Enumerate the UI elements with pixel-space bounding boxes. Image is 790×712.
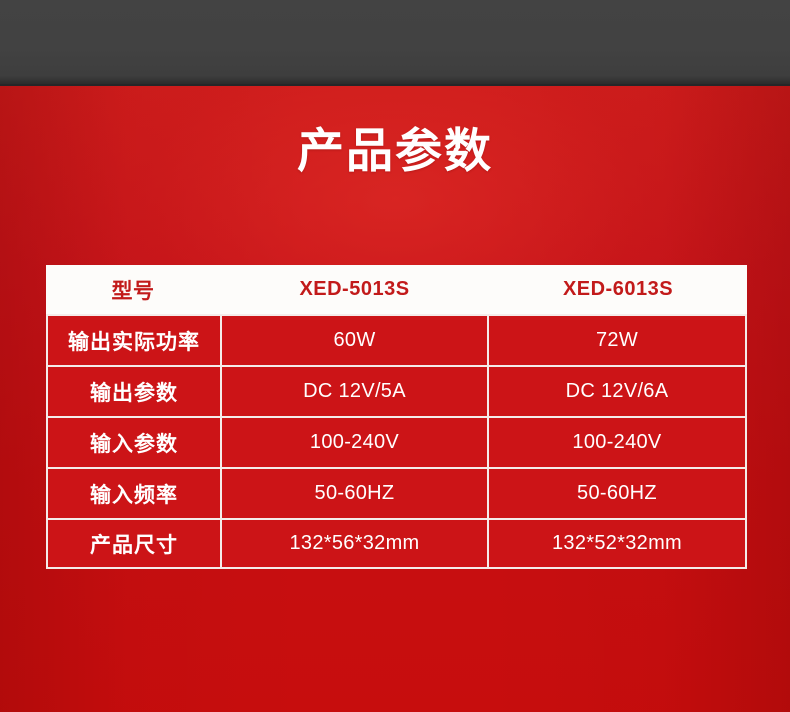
row-label-output-params: 输出参数 (46, 365, 222, 416)
table-header: 型号 XED-5013S XED-6013S (46, 265, 747, 314)
product-spec-table: 型号 XED-5013S XED-6013S 输出实际功率 60W 72W 输出… (46, 265, 747, 569)
table-row: 输出参数 DC 12V/5A DC 12V/6A (46, 365, 747, 416)
table-row: 输入参数 100-240V 100-240V (46, 416, 747, 467)
column-header-model-2: XED-6013S (489, 265, 747, 314)
cell-input-params-model-1: 100-240V (222, 416, 489, 467)
cell-input-params-model-2: 100-240V (489, 416, 747, 467)
table-row: 输入频率 50-60HZ 50-60HZ (46, 467, 747, 518)
table-row: 输出实际功率 60W 72W (46, 314, 747, 365)
page-title: 产品参数 (0, 121, 790, 181)
row-label-output-power: 输出实际功率 (46, 314, 222, 365)
row-label-input-frequency: 输入频率 (46, 467, 222, 518)
table-row: 产品尺寸 132*56*32mm 132*52*32mm (46, 518, 747, 569)
cell-input-frequency-model-1: 50-60HZ (222, 467, 489, 518)
row-label-product-size: 产品尺寸 (46, 518, 222, 569)
cell-product-size-model-2: 132*52*32mm (489, 518, 747, 569)
product-spec-page: 产品参数 型号 XED-5013S XED-6013S 输出实际功率 60W 7… (0, 0, 790, 712)
column-header-model-1: XED-5013S (222, 265, 489, 314)
cell-output-params-model-2: DC 12V/6A (489, 365, 747, 416)
column-header-model-label: 型号 (46, 265, 222, 314)
top-dark-band (0, 0, 790, 86)
cell-product-size-model-1: 132*56*32mm (222, 518, 489, 569)
table-header-row: 型号 XED-5013S XED-6013S (46, 265, 747, 314)
cell-output-power-model-1: 60W (222, 314, 489, 365)
cell-output-power-model-2: 72W (489, 314, 747, 365)
table-body: 输出实际功率 60W 72W 输出参数 DC 12V/5A DC 12V/6A … (46, 314, 747, 569)
cell-output-params-model-1: DC 12V/5A (222, 365, 489, 416)
row-label-input-params: 输入参数 (46, 416, 222, 467)
cell-input-frequency-model-2: 50-60HZ (489, 467, 747, 518)
